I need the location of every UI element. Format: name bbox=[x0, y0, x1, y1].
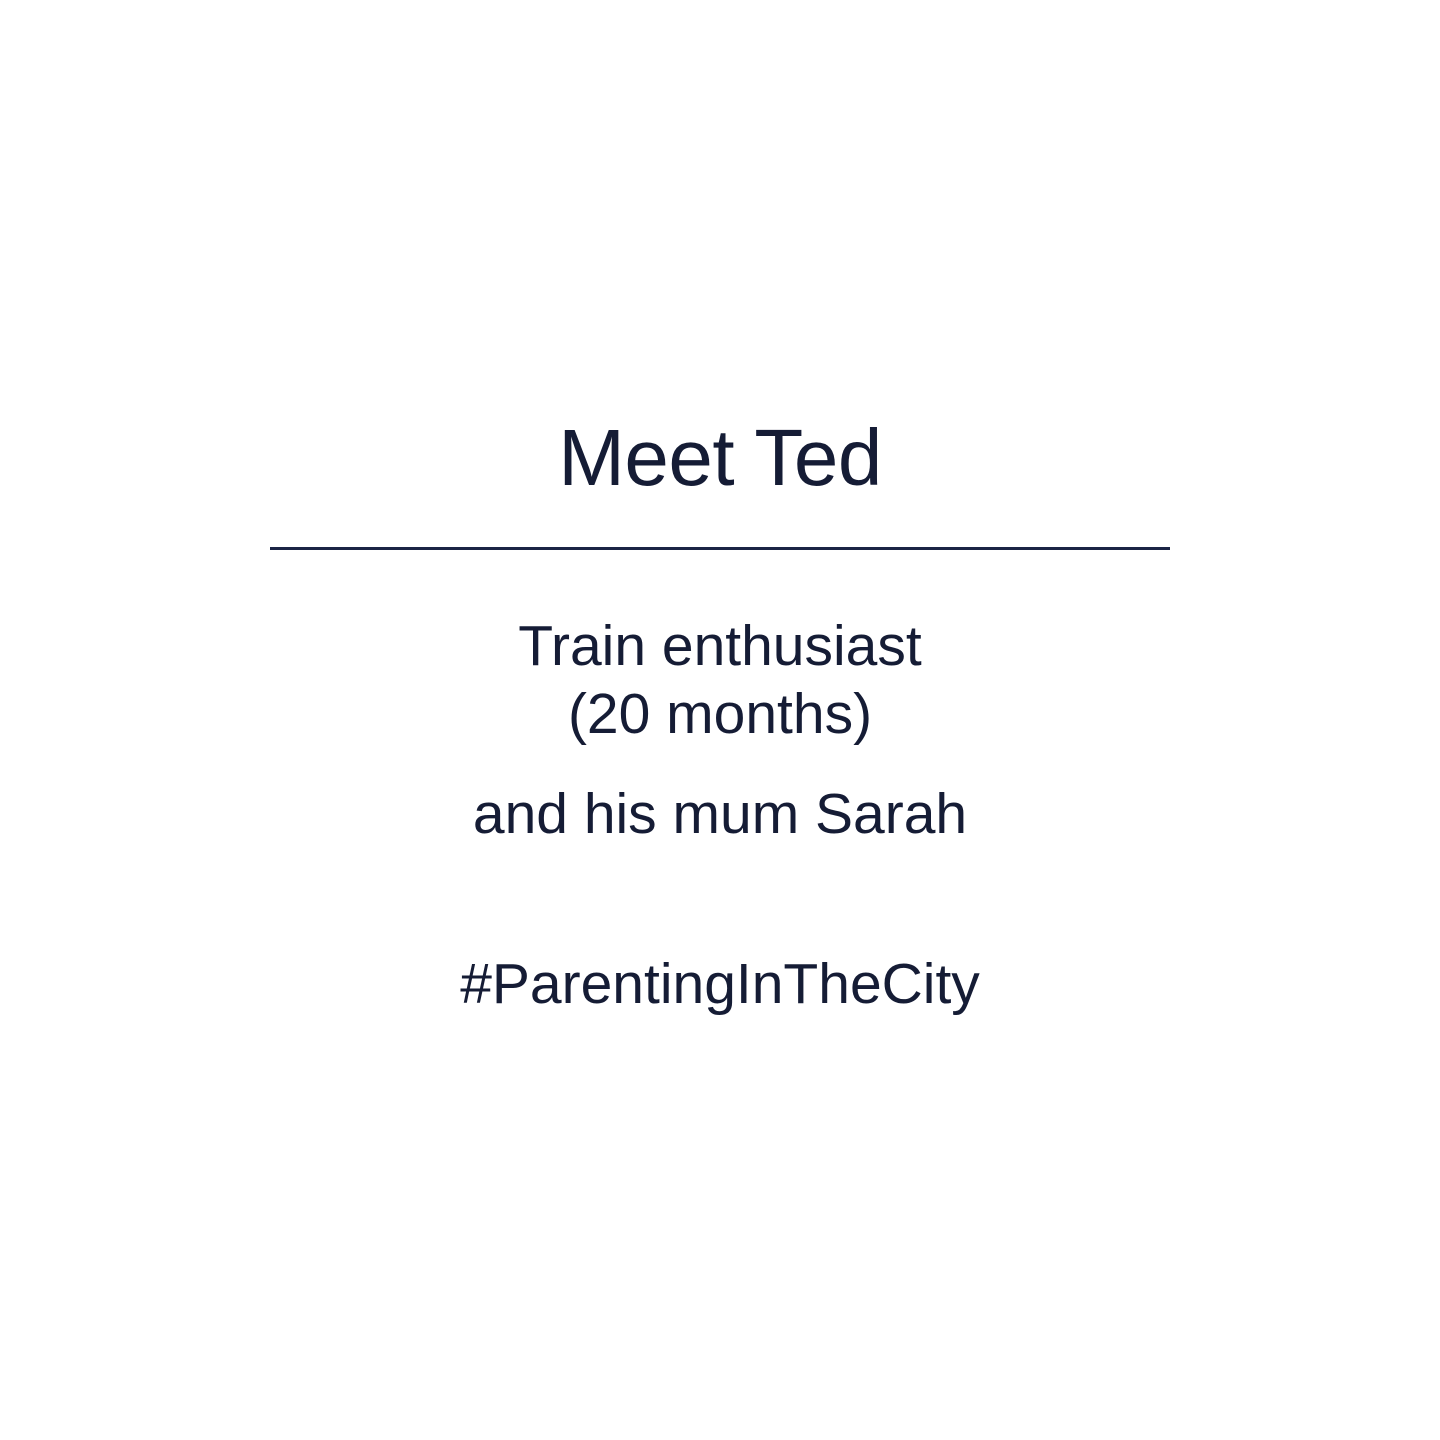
slide-canvas: Meet Ted Train enthusiast (20 months) an… bbox=[0, 0, 1440, 1440]
subtitle-line-3: and his mum Sarah bbox=[0, 780, 1440, 848]
title-block: Meet Ted bbox=[0, 418, 1440, 498]
subtitle-line-1: Train enthusiast bbox=[0, 612, 1440, 680]
subtitle-spacer bbox=[0, 748, 1440, 780]
hashtag-block: #ParentingInTheCity bbox=[0, 950, 1440, 1018]
hashtag-label: #ParentingInTheCity bbox=[460, 950, 980, 1018]
subtitle-line-2: (20 months) bbox=[0, 680, 1440, 748]
page-title: Meet Ted bbox=[0, 418, 1440, 498]
divider-rule bbox=[270, 547, 1170, 550]
subtitle-block: Train enthusiast (20 months) and his mum… bbox=[0, 612, 1440, 848]
